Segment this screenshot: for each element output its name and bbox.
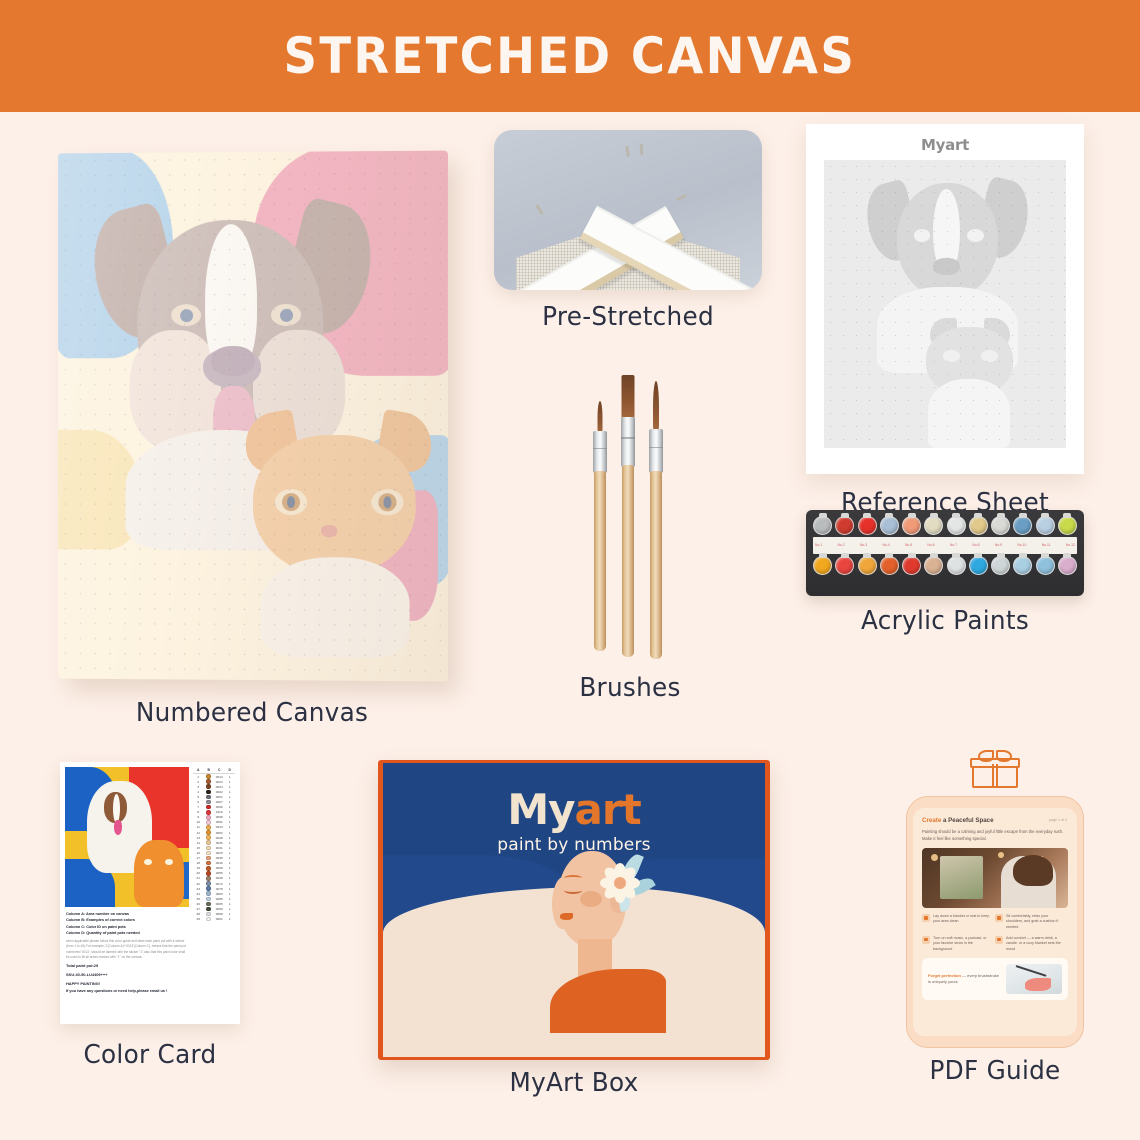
myart-box-item[interactable]: Myart paint by numbers: [378, 760, 770, 1060]
color-table-row: 2600651: [193, 901, 235, 906]
gift-ribbon: [992, 764, 998, 788]
color-table-row: 1500311: [193, 845, 235, 850]
color-row-swatch-cell: [204, 840, 215, 845]
pdf-guide-item[interactable]: page 1 of 3 Create a Peaceful Space Pain…: [900, 752, 1090, 1052]
color-card-sheet: Column A: Area number on canvas Column B…: [60, 762, 240, 1024]
cc-total-paint: Total paint pot:29: [66, 963, 188, 969]
woman-eyebrow: [564, 875, 582, 881]
color-row-qty: 1: [225, 825, 236, 829]
box-logo-my: My: [507, 785, 574, 834]
caption-acrylic-paints: Acrylic Paints: [813, 606, 1077, 636]
pdf-tip-text: Lay down a blanket or mat to keep your a…: [933, 914, 992, 931]
color-row-index: 14: [193, 841, 204, 845]
color-row-swatch-cell: [204, 846, 215, 851]
color-row-qty: 1: [225, 805, 236, 809]
pdf-footer-brush: [1015, 965, 1047, 977]
color-row-swatch-cell: [204, 866, 215, 871]
color-swatch: [206, 891, 211, 896]
paint-pot: [1036, 516, 1055, 535]
pdf-photo-light-2: [998, 852, 1004, 858]
pdf-tip-icon: [922, 914, 930, 922]
paint-code: No.2: [837, 543, 844, 548]
color-row-swatch-cell: [204, 830, 215, 835]
color-row-swatch-cell: [204, 795, 215, 800]
pdf-footer-highlight: Forget perfection: [928, 973, 961, 978]
caption-numbered-canvas: Numbered Canvas: [67, 698, 438, 728]
color-row-id: 0038: [214, 876, 225, 880]
color-row-swatch-cell: [204, 825, 215, 830]
color-swatch: [206, 846, 211, 851]
color-row-index: 29: [193, 917, 204, 921]
color-row-id: 0067: [214, 800, 225, 804]
color-row-swatch-cell: [204, 815, 215, 820]
color-row-swatch-cell: [204, 891, 215, 896]
color-swatch: [206, 784, 211, 789]
pdf-footer-box: Forget perfection — every brushstroke is…: [922, 958, 1068, 1000]
color-table-row: 200231: [193, 779, 235, 784]
color-row-swatch-cell: [204, 820, 215, 825]
color-card-artwork: [65, 767, 189, 907]
canvas-sheen: [58, 151, 448, 682]
woman-shirt: [550, 969, 666, 1033]
color-row-index: 23: [193, 887, 204, 891]
color-swatch: [206, 790, 211, 795]
color-row-swatch-cell: [204, 800, 215, 805]
color-table-body: 1001312002313000414000215006116006717009…: [193, 774, 235, 922]
color-row-swatch-cell: [204, 851, 215, 856]
caption-brushes: Brushes: [564, 673, 697, 703]
gift-bow-right: [996, 750, 1012, 762]
color-swatch: [206, 866, 211, 871]
color-row-id: 0061: [214, 795, 225, 799]
color-row-qty: 1: [225, 892, 236, 896]
color-row-index: 12: [193, 831, 204, 835]
color-swatch: [206, 815, 211, 820]
color-swatch: [206, 886, 211, 891]
color-table-row: 1000911: [193, 820, 235, 825]
paint-tray: No.1No.2No.3No.4No.5No.6No.7No.8No.9No.1…: [806, 510, 1084, 596]
pdf-tip-item: Turn on soft music, a podcast, or your f…: [922, 936, 995, 953]
color-row-index: 11: [193, 825, 204, 829]
page-header: STRETCHED CANVAS: [0, 0, 1140, 112]
paint-pot: [902, 556, 921, 575]
numbered-canvas-image: [58, 151, 448, 682]
paint-row-top: [813, 516, 1077, 535]
pdf-photo-light-1: [931, 854, 938, 861]
color-row-swatch-cell: [204, 774, 215, 779]
color-table-row: 2200721: [193, 881, 235, 886]
paint-pot: [813, 556, 832, 575]
color-table-row: 1300481: [193, 835, 235, 840]
brush-round-small: [594, 401, 606, 651]
color-table-row: 400021: [193, 789, 235, 794]
staple-2: [640, 144, 644, 155]
numbered-canvas-item[interactable]: Numbered Canvas: [57, 152, 447, 680]
pdf-tip-text: Add comfort — a warm drink, a candle, or…: [1006, 936, 1065, 953]
color-row-qty: 1: [225, 785, 236, 789]
color-row-id: 0088: [214, 912, 225, 916]
box-edge: Myart paint by numbers: [378, 760, 770, 1060]
color-row-swatch-cell: [204, 784, 215, 789]
color-row-id: 0065: [214, 902, 225, 906]
color-row-qty: 1: [225, 846, 236, 850]
color-swatch: [206, 774, 211, 779]
color-row-swatch-cell: [204, 790, 215, 795]
brushes-item[interactable]: Brushes: [560, 357, 700, 657]
staple-1: [625, 146, 630, 157]
color-row-index: 26: [193, 902, 204, 906]
color-row-index: 24: [193, 892, 204, 896]
color-row-index: 19: [193, 866, 204, 870]
color-row-qty: 1: [225, 841, 236, 845]
color-row-qty: 1: [225, 887, 236, 891]
color-swatch: [206, 800, 211, 805]
paint-pot: [969, 556, 988, 575]
paint-code: No.7: [950, 543, 957, 548]
pdf-body-text: Painting should be a calming and joyful …: [922, 829, 1068, 843]
color-swatch: [206, 840, 211, 845]
cc-instructions: when applicable,please follow this color…: [66, 939, 188, 960]
color-table-row: 1200521: [193, 830, 235, 835]
brush-flat: [622, 375, 634, 657]
color-table-header-cell: D: [225, 768, 236, 772]
color-row-id: 0055: [214, 871, 225, 875]
color-swatch: [206, 779, 211, 784]
color-table-row: 2700691: [193, 906, 235, 911]
paint-code: No.4: [882, 543, 889, 548]
color-row-qty: 1: [225, 831, 236, 835]
color-row-qty: 1: [225, 810, 236, 814]
color-row-id: 0083: [214, 892, 225, 896]
paint-label-strip: No.1No.2No.3No.4No.5No.6No.7No.8No.9No.1…: [813, 537, 1077, 554]
color-row-qty: 1: [225, 856, 236, 860]
color-row-index: 20: [193, 871, 204, 875]
color-table-row: 1700361: [193, 856, 235, 861]
color-row-swatch-cell: [204, 810, 215, 815]
color-row-qty: 1: [225, 907, 236, 911]
color-row-id: 0035: [214, 841, 225, 845]
color-row-id: 0043: [214, 825, 225, 829]
ref-number-dots: [824, 160, 1066, 448]
color-row-id: 0098: [214, 815, 225, 819]
color-swatch: [206, 861, 211, 866]
color-row-index: 7: [193, 805, 204, 809]
color-row-id: 0110: [214, 810, 225, 814]
color-swatch: [206, 835, 211, 840]
paint-pot: [924, 556, 943, 575]
woman-lips: [560, 913, 573, 920]
box-woman-illustration: [548, 851, 658, 1031]
color-table-row: 600671: [193, 799, 235, 804]
brush-ferrule-2: [621, 417, 635, 467]
paint-pot: [991, 516, 1010, 535]
color-row-index: 15: [193, 846, 204, 850]
color-table-row: 300041: [193, 784, 235, 789]
paint-pot: [1058, 516, 1077, 535]
woman-flower: [600, 863, 640, 903]
color-row-id: 0029: [214, 851, 225, 855]
pdf-tip-item: Lay down a blanket or mat to keep your a…: [922, 914, 995, 931]
color-swatch: [206, 881, 211, 886]
color-row-index: 3: [193, 785, 204, 789]
paint-pot: [947, 516, 966, 535]
color-table-row: 801101: [193, 810, 235, 815]
color-table-row: 2900011: [193, 917, 235, 922]
brush-ferrule-1: [593, 431, 607, 473]
staple-3: [535, 204, 543, 215]
pdf-tip-item: Sit comfortably, relax your shoulders, a…: [995, 914, 1068, 931]
pdf-photo-hair: [1013, 855, 1054, 886]
color-row-qty: 1: [225, 820, 236, 824]
paint-pot: [858, 556, 877, 575]
color-row-index: 4: [193, 790, 204, 794]
caption-pdf-guide: PDF Guide: [905, 1056, 1086, 1086]
pdf-photo: [922, 848, 1068, 908]
color-table-header-cell: A: [193, 768, 204, 772]
brush-tip-1: [598, 401, 603, 435]
color-row-swatch-cell: [204, 917, 215, 922]
paint-pot: [880, 516, 899, 535]
paint-pot: [902, 516, 921, 535]
color-row-id: 0031: [214, 846, 225, 850]
color-row-qty: 1: [225, 861, 236, 865]
color-row-index: 18: [193, 861, 204, 865]
pdf-tip-icon: [995, 936, 1003, 944]
color-row-qty: 1: [225, 815, 236, 819]
color-row-id: 0078: [214, 887, 225, 891]
color-row-qty: 1: [225, 902, 236, 906]
color-row-swatch-cell: [204, 912, 215, 917]
color-table-row: 900981: [193, 815, 235, 820]
color-row-id: 0058: [214, 866, 225, 870]
color-table-row: 700991: [193, 805, 235, 810]
paint-pot: [858, 516, 877, 535]
color-row-index: 28: [193, 912, 204, 916]
pre-stretched-item[interactable]: Pre-Stretched: [494, 130, 762, 290]
color-row-qty: 1: [225, 800, 236, 804]
color-row-id: 0099: [214, 805, 225, 809]
reference-sheet-item[interactable]: Myart Reference Sheet: [806, 124, 1084, 474]
color-card-item[interactable]: Column A: Area number on canvas Column B…: [60, 762, 240, 1024]
color-swatch: [206, 902, 211, 907]
brush-tip-2: [622, 375, 635, 421]
color-row-id: 0001: [214, 917, 225, 921]
color-row-index: 22: [193, 882, 204, 886]
color-row-swatch-cell: [204, 856, 215, 861]
paint-code: No.6: [927, 543, 934, 548]
paint-row-bottom: [813, 556, 1077, 575]
color-row-qty: 1: [225, 775, 236, 779]
brush-handle-3: [650, 471, 662, 659]
box-front-panel: Myart paint by numbers: [383, 763, 765, 1057]
paint-pot: [1013, 516, 1032, 535]
cc-cat: [134, 840, 184, 907]
woman-eye: [564, 887, 582, 894]
cc-contact: If you have any questions or need help,p…: [66, 988, 188, 994]
color-row-index: 21: [193, 876, 204, 880]
gift-bow-left: [978, 750, 994, 762]
paint-code: No.9: [995, 543, 1002, 548]
pdf-tip-text: Turn on soft music, a podcast, or your f…: [933, 936, 992, 953]
color-row-qty: 1: [225, 917, 236, 921]
paint-pot: [969, 516, 988, 535]
color-swatch: [206, 871, 211, 876]
color-row-qty: 1: [225, 780, 236, 784]
gift-icon: [972, 752, 1018, 788]
pdf-heading: Create a Peaceful Space: [922, 817, 1068, 825]
color-row-index: 13: [193, 836, 204, 840]
color-swatch: [206, 917, 211, 922]
flower-center: [614, 877, 626, 889]
paint-code-list: No.1No.2No.3No.4No.5No.6No.7No.8No.9No.1…: [815, 543, 1075, 548]
color-row-id: 0052: [214, 831, 225, 835]
color-row-swatch-cell: [204, 907, 215, 912]
color-row-qty: 1: [225, 897, 236, 901]
color-row-swatch-cell: [204, 871, 215, 876]
color-swatch: [206, 876, 211, 881]
color-card-text: Column A: Area number on canvas Column B…: [65, 907, 189, 994]
paint-pot: [880, 556, 899, 575]
reference-sheet-artwork: [824, 160, 1066, 448]
color-row-swatch-cell: [204, 886, 215, 891]
color-row-id: 0085: [214, 897, 225, 901]
color-row-swatch-cell: [204, 861, 215, 866]
color-row-id: 0013: [214, 775, 225, 779]
color-row-id: 0046: [214, 861, 225, 865]
paint-code: No.10: [1017, 543, 1026, 548]
color-row-index: 5: [193, 795, 204, 799]
brush-ferrule-3: [649, 429, 663, 473]
pdf-heading-highlight: Create: [922, 817, 941, 824]
paint-pot: [835, 516, 854, 535]
color-table-row: 2300781: [193, 886, 235, 891]
brush-handle-1: [594, 471, 606, 651]
paint-pot: [1058, 556, 1077, 575]
color-row-index: 9: [193, 815, 204, 819]
color-table-row: 100131: [193, 774, 235, 779]
color-row-swatch-cell: [204, 881, 215, 886]
color-row-qty: 1: [225, 851, 236, 855]
product-grid: Numbered Canvas Pre-Stretched Myart: [0, 112, 1140, 1140]
paint-code: No.12: [1066, 543, 1075, 548]
pdf-photo-easel: [940, 856, 984, 899]
color-row-swatch-cell: [204, 805, 215, 810]
color-swatch: [206, 856, 211, 861]
pdf-footer-paint: [1025, 978, 1051, 991]
color-row-id: 0002: [214, 790, 225, 794]
paint-code: No.3: [860, 543, 867, 548]
color-table-row: 1100431: [193, 825, 235, 830]
cc-sku: SKU:40-50-LU4409+++: [66, 972, 188, 978]
paint-pot: [1013, 556, 1032, 575]
color-table-row: 500611: [193, 794, 235, 799]
pdf-tip-icon: [922, 936, 930, 944]
color-swatch: [206, 830, 211, 835]
color-table-header-cell: B: [204, 768, 215, 772]
caption-myart-box: MyArt Box: [388, 1068, 760, 1098]
brush-round-liner: [650, 381, 662, 659]
cc-cat-eye-right: [165, 859, 173, 866]
color-row-index: 2: [193, 780, 204, 784]
color-row-swatch-cell: [204, 876, 215, 881]
color-row-qty: 1: [225, 871, 236, 875]
color-row-qty: 1: [225, 836, 236, 840]
color-row-qty: 1: [225, 912, 236, 916]
paint-pot: [991, 556, 1010, 575]
paint-pot: [947, 556, 966, 575]
color-table-row: 1900581: [193, 866, 235, 871]
color-row-index: 27: [193, 907, 204, 911]
color-row-qty: 1: [225, 876, 236, 880]
cc-column-d: Column D: Quantity of paint pots needed: [66, 930, 188, 936]
color-swatch: [206, 907, 211, 912]
color-table-row: 2400831: [193, 891, 235, 896]
paint-pot: [924, 516, 943, 535]
staple-4: [676, 194, 687, 201]
color-row-id: 0072: [214, 882, 225, 886]
color-row-qty: 1: [225, 866, 236, 870]
woman-cheek: [580, 891, 602, 907]
paint-code: No.11: [1042, 543, 1051, 548]
pdf-page-number: page 1 of 3: [1049, 818, 1067, 822]
color-table-row: 2800881: [193, 912, 235, 917]
color-row-qty: 1: [225, 790, 236, 794]
box-logo: Myart: [383, 785, 765, 834]
paint-code: No.8: [972, 543, 979, 548]
color-row-id: 0036: [214, 856, 225, 860]
color-table-row: 2100381: [193, 876, 235, 881]
color-row-id: 0069: [214, 907, 225, 911]
pdf-footer-text: Forget perfection — every brushstroke is…: [928, 973, 1001, 985]
pdf-tip-item: Add comfort — a warm drink, a candle, or…: [995, 936, 1068, 953]
pdf-footer-image: [1006, 964, 1062, 994]
pdf-tip-text: Sit comfortably, relax your shoulders, a…: [1006, 914, 1065, 931]
brush-tip-3: [653, 381, 659, 433]
pdf-heading-rest: a Peaceful Space: [941, 817, 993, 824]
woman-profile: [552, 877, 574, 929]
color-row-index: 25: [193, 897, 204, 901]
color-row-id: 0048: [214, 836, 225, 840]
color-table-row: 1400351: [193, 840, 235, 845]
color-row-id: 0091: [214, 820, 225, 824]
color-table-row: 1800461: [193, 861, 235, 866]
color-swatch: [206, 820, 211, 825]
color-row-id: 0004: [214, 785, 225, 789]
pre-stretched-image: [494, 130, 762, 290]
color-row-index: 17: [193, 856, 204, 860]
color-table-row: 2500851: [193, 896, 235, 901]
page-title: STRETCHED CANVAS: [284, 27, 857, 85]
caption-pre-stretched: Pre-Stretched: [501, 302, 756, 332]
acrylic-paints-item[interactable]: No.1No.2No.3No.4No.5No.6No.7No.8No.9No.1…: [806, 510, 1084, 596]
color-swatch: [206, 795, 211, 800]
color-table-row: 2000551: [193, 871, 235, 876]
color-swatch: [206, 912, 211, 917]
color-row-index: 16: [193, 851, 204, 855]
color-row-swatch-cell: [204, 902, 215, 907]
color-row-swatch-cell: [204, 835, 215, 840]
color-card-table: ABCD 10013120023130004140002150061160067…: [193, 767, 235, 1019]
color-table-header-cell: C: [214, 768, 225, 772]
cc-dog-tongue: [114, 820, 122, 835]
color-row-index: 6: [193, 800, 204, 804]
pdf-tips-list: Lay down a blanket or mat to keep your a…: [922, 914, 1068, 957]
color-swatch: [206, 805, 211, 810]
reference-sheet-logo: Myart: [806, 136, 1084, 154]
reference-sheet-image: Myart: [806, 124, 1084, 474]
pdf-tip-icon: [995, 914, 1003, 922]
color-swatch: [206, 825, 211, 830]
